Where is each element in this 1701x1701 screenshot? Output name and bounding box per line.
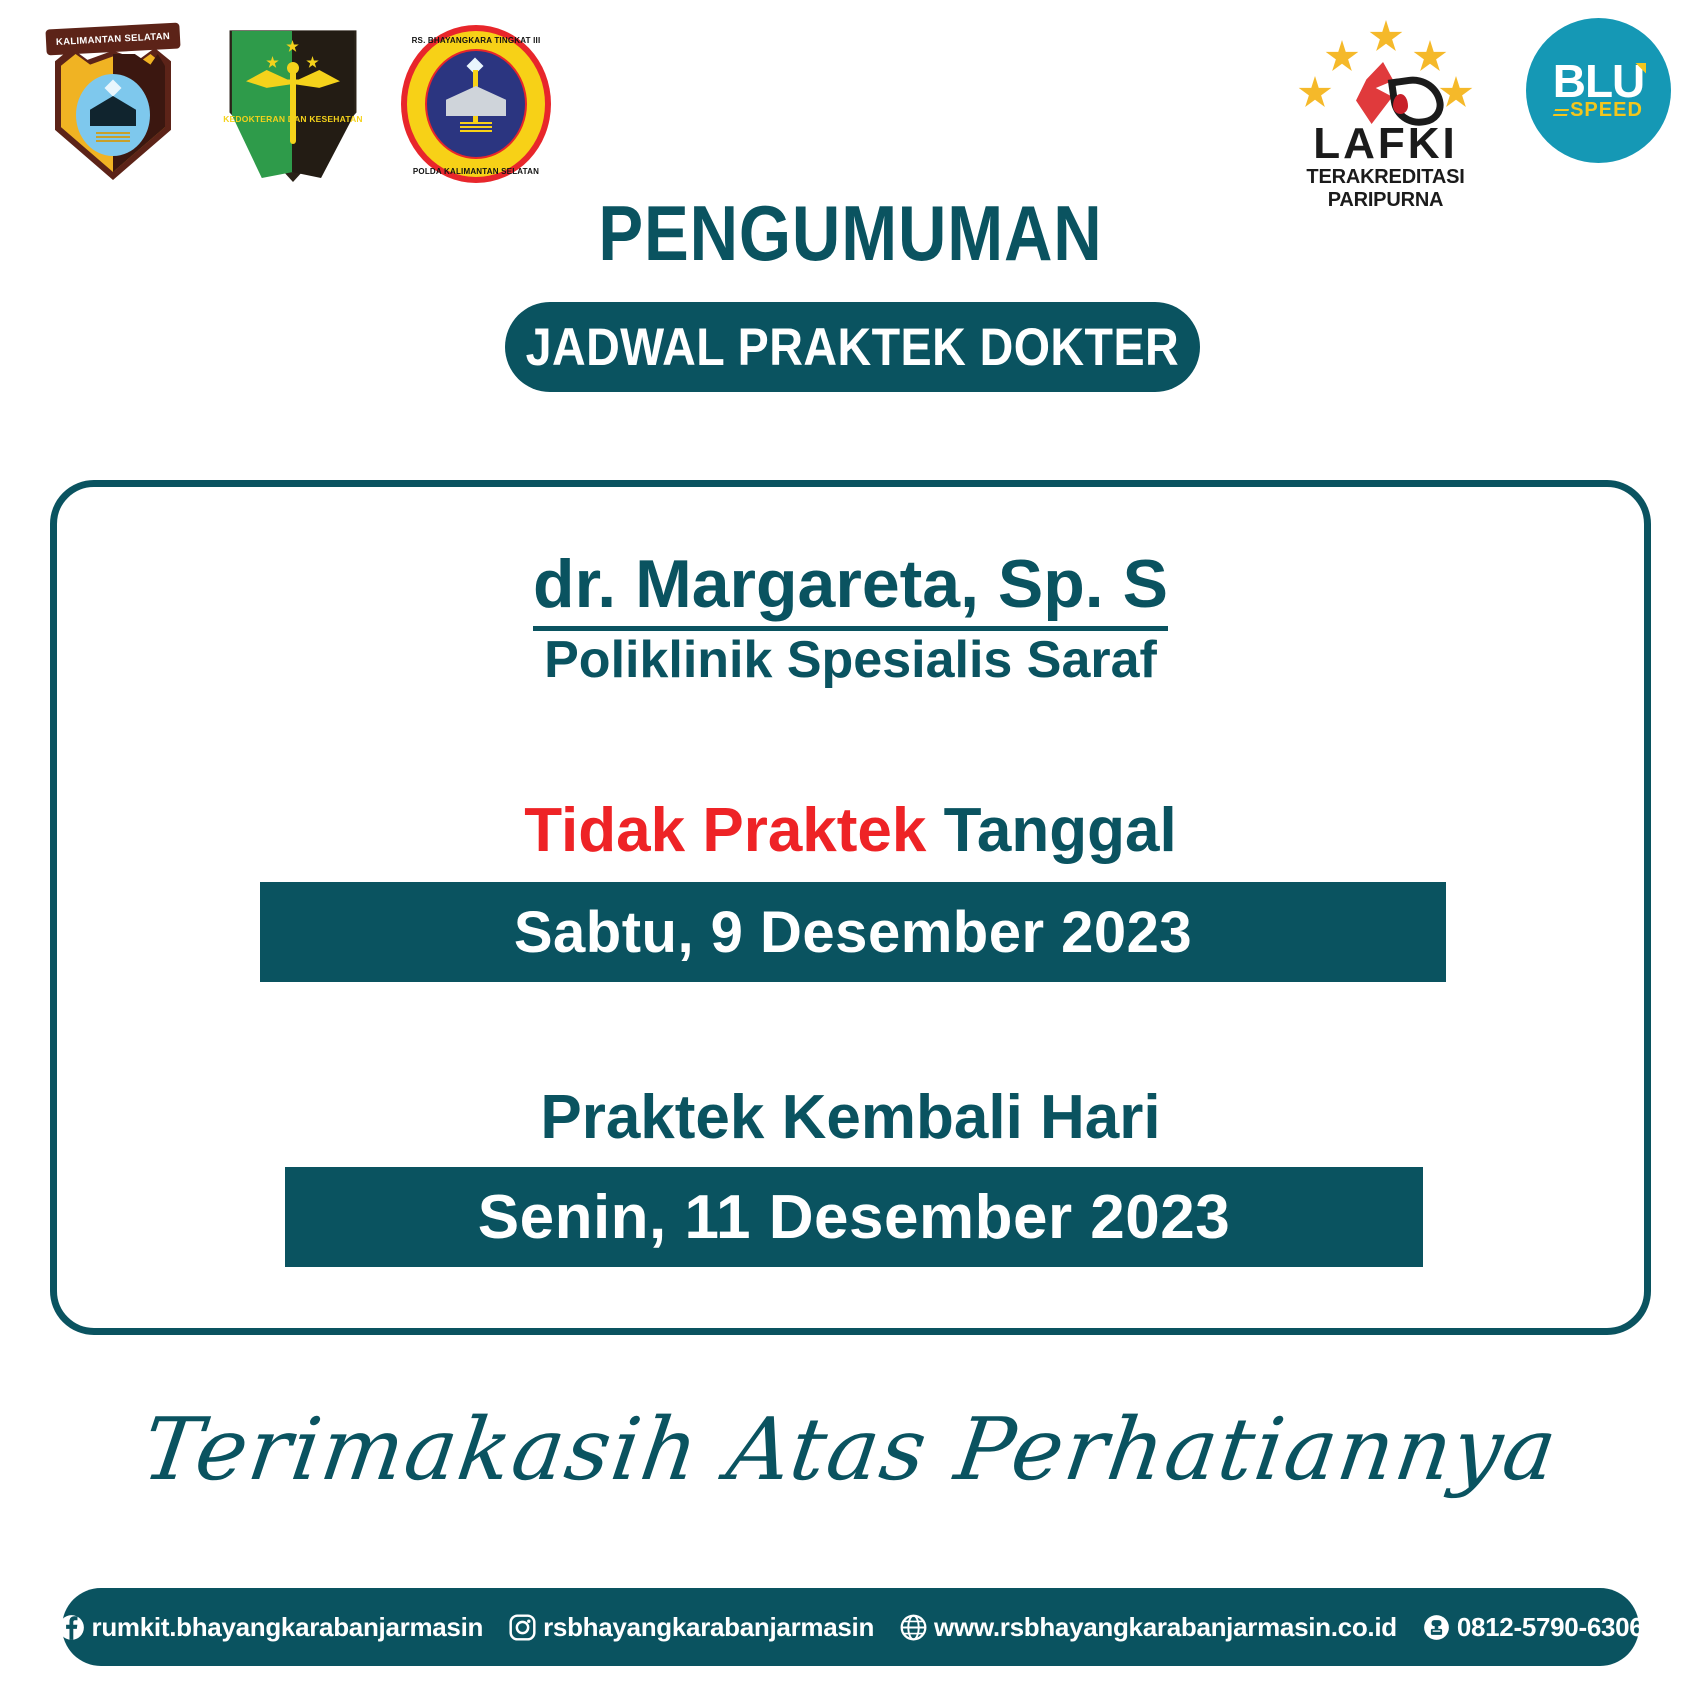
blu-wordmark-text: BLU <box>1553 55 1645 107</box>
badge-top-label: RS. BHAYANGKARA TINGKAT III <box>398 36 554 45</box>
footer-website-label: www.rsbhayangkarabanjarmasin.co.id <box>934 1612 1397 1643</box>
blu-speed-logo: BLU SPEED <box>1526 18 1671 163</box>
footer-phone-label: 0812-5790-6306 <box>1457 1612 1644 1643</box>
absence-notice-suffix: Tanggal <box>926 796 1176 865</box>
lafki-logo: LAFKI TERAKREDITASI PARIPURNA <box>1263 18 1508 186</box>
absent-date-bar: Sabtu, 9 Desember 2023 <box>260 882 1446 982</box>
blood-drop-icon <box>1393 94 1408 114</box>
instagram-icon <box>509 1614 536 1641</box>
footer-item-phone[interactable]: 0812-5790-6306 <box>1423 1612 1644 1643</box>
shield-green-half <box>228 28 293 178</box>
badge-bottom-label: POLDA KALIMANTAN SELATAN <box>398 167 554 176</box>
caduceus-rod-icon <box>290 66 296 144</box>
star-icon <box>1413 40 1447 74</box>
footer-item-website[interactable]: www.rsbhayangkarabanjarmasin.co.id <box>900 1612 1397 1643</box>
right-logo-group: LAFKI TERAKREDITASI PARIPURNA BLU SPEED <box>1263 18 1671 186</box>
return-date-text: Senin, 11 Desember 2023 <box>478 1182 1231 1253</box>
page-title: PENGUMUMAN <box>119 188 1582 279</box>
doctor-name-text: dr. Margareta, Sp. S <box>533 546 1168 631</box>
river-waves-icon <box>460 122 492 132</box>
rs-bhayangkara-badge: RS. BHAYANGKARA TINGKAT III POLDA KALIMA… <box>398 18 554 188</box>
doctor-name: dr. Margareta, Sp. S <box>0 545 1701 623</box>
announcement-poster: KALIMANTAN SELATAN KEDOKTERAN DAN KESEHA… <box>0 0 1701 1701</box>
footer-facebook-label: rumkit.bhayangkarabanjarmasin <box>92 1612 484 1643</box>
star-icon <box>1298 76 1332 110</box>
contact-footer: rumkit.bhayangkarabanjarmasin rsbhayangk… <box>62 1588 1639 1666</box>
absent-date-text: Sabtu, 9 Desember 2023 <box>514 899 1192 966</box>
shield-dark-half <box>292 28 358 178</box>
blu-wordmark: BLU <box>1553 61 1645 102</box>
return-date-bar: Senin, 11 Desember 2023 <box>285 1167 1423 1267</box>
lafki-wordmark: LAFKI <box>1263 122 1508 166</box>
river-waves-icon <box>96 132 130 142</box>
phone-icon <box>1423 1614 1450 1641</box>
badge-arc-label: KEDOKTERAN DAN KESEHATAN <box>218 114 368 124</box>
subtitle-pill: JADWAL PRAKTEK DOKTER <box>505 302 1200 392</box>
clinic-name: Poliklinik Spesialis Saraf <box>0 630 1701 690</box>
star-icon <box>1439 76 1473 110</box>
footer-item-facebook[interactable]: rumkit.bhayangkarabanjarmasin <box>58 1612 484 1643</box>
return-label: Praktek Kembali Hari <box>0 1082 1701 1153</box>
star-icon <box>1325 40 1359 74</box>
kedokteran-kesehatan-badge: KEDOKTERAN DAN KESEHATAN <box>218 18 368 188</box>
globe-icon <box>900 1614 927 1641</box>
speed-lines-icon <box>1553 109 1569 116</box>
footer-instagram-label: rsbhayangkarabanjarmasin <box>543 1612 874 1643</box>
thank-you-message: Terimakasih Atas Perhatiannya <box>0 1400 1701 1500</box>
subtitle-pill-label: JADWAL PRAKTEK DOKTER <box>526 317 1180 378</box>
facebook-icon <box>58 1614 85 1641</box>
absence-notice: Tidak Praktek Tanggal <box>0 795 1701 866</box>
footer-item-instagram[interactable]: rsbhayangkarabanjarmasin <box>509 1612 874 1643</box>
absence-notice-emphasis: Tidak Praktek <box>524 796 926 865</box>
left-logo-group: KALIMANTAN SELATAN KEDOKTERAN DAN KESEHA… <box>38 18 554 188</box>
star-icon <box>1369 20 1403 54</box>
badge-ribbon: KALIMANTAN SELATAN <box>45 23 180 56</box>
badge-ribbon-label: KALIMANTAN SELATAN <box>56 31 171 48</box>
polda-kalsel-badge: KALIMANTAN SELATAN <box>38 18 188 188</box>
